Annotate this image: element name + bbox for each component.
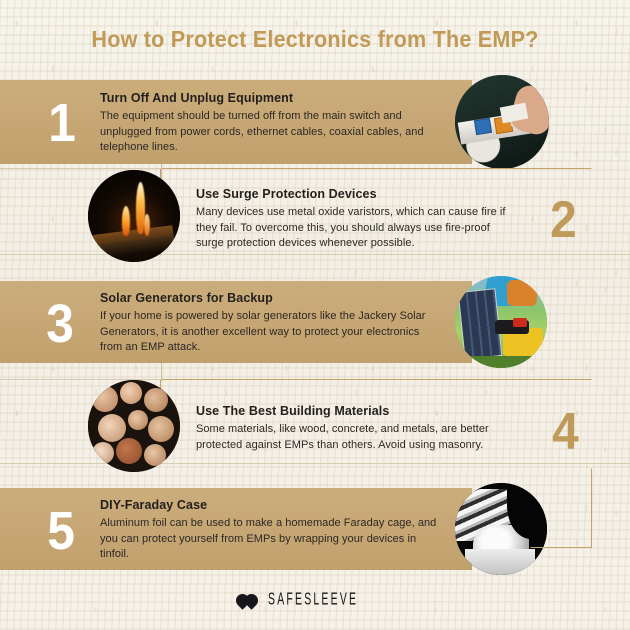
- step-4-text: Use The Best Building Materials Some mat…: [196, 404, 516, 453]
- step-3-body: If your home is powered by solar generat…: [100, 309, 430, 356]
- page-title: How to Protect Electronics from The EMP?: [19, 26, 611, 53]
- step-5-text: DIY-Faraday Case Aluminum foil can be us…: [100, 498, 440, 563]
- step-row-4: Use The Best Building Materials Some mat…: [0, 382, 630, 476]
- step-2-text: Use Surge Protection Devices Many device…: [196, 187, 506, 252]
- step-5-body: Aluminum foil can be used to make a home…: [100, 516, 440, 563]
- step-5-outline-frame: [530, 468, 592, 548]
- step-4-body: Some materials, like wood, concrete, and…: [196, 422, 516, 453]
- step-3-heading: Solar Generators for Backup: [100, 291, 430, 305]
- brand-name: SAFESLEEVE: [268, 591, 358, 610]
- step-2-number: 2: [550, 194, 577, 246]
- step-row-5: 5 DIY-Faraday Case Aluminum foil can be …: [0, 488, 630, 570]
- step-1-text: Turn Off And Unplug Equipment The equipm…: [100, 91, 430, 156]
- step-4-heading: Use The Best Building Materials: [196, 404, 516, 418]
- safesleeve-mark-icon: [236, 593, 262, 608]
- step-4-image: [88, 380, 180, 472]
- step-1-heading: Turn Off And Unplug Equipment: [100, 91, 430, 105]
- step-5-heading: DIY-Faraday Case: [100, 498, 440, 512]
- step-1-image: [455, 75, 549, 169]
- step-4-number: 4: [552, 406, 579, 458]
- step-2-line-top: [0, 168, 162, 169]
- step-1-body: The equipment should be turned off from …: [100, 109, 430, 156]
- footer-logo: SAFESLEEVE: [0, 592, 630, 608]
- step-2-image: [88, 170, 180, 262]
- step-3-number: 3: [46, 297, 74, 351]
- infographic-poster: How to Protect Electronics from The EMP?…: [0, 0, 630, 630]
- step-row-3: 3 Solar Generators for Backup If your ho…: [0, 281, 630, 363]
- step-5-number: 5: [47, 504, 75, 558]
- step-row-1: 1 Turn Off And Unplug Equipment The equi…: [0, 80, 630, 164]
- step-2-body: Many devices use metal oxide varistors, …: [196, 205, 506, 252]
- step-3-image: [455, 276, 547, 368]
- step-2-heading: Use Surge Protection Devices: [196, 187, 506, 201]
- step-row-2: Use Surge Protection Devices Many device…: [0, 172, 630, 268]
- step-3-text: Solar Generators for Backup If your home…: [100, 291, 430, 356]
- step-1-number: 1: [48, 96, 76, 150]
